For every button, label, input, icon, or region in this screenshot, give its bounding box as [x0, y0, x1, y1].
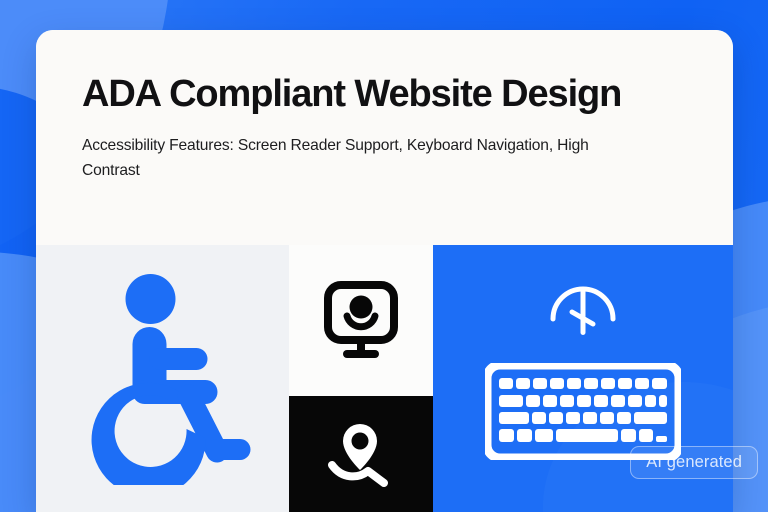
screen-reader-monitor-icon	[322, 281, 400, 361]
contrast-gauge-icon	[547, 275, 619, 337]
poster-canvas: ADA Compliant Website Design Accessibili…	[0, 0, 768, 512]
page-subtitle: Accessibility Features: Screen Reader Su…	[82, 134, 602, 183]
card-header: ADA Compliant Website Design Accessibili…	[36, 30, 733, 245]
media-panel-navigation	[289, 396, 433, 512]
media-strip	[36, 245, 733, 512]
wheelchair-accessibility-icon	[75, 273, 250, 485]
content-card: ADA Compliant Website Design Accessibili…	[36, 30, 733, 512]
location-pin-route-icon	[324, 421, 398, 487]
ai-generated-badge: AI generated	[630, 446, 758, 480]
media-panel-screen-reader	[289, 245, 433, 396]
media-panel-column-center	[289, 245, 433, 512]
media-panel-wheelchair	[36, 245, 289, 512]
page-title: ADA Compliant Website Design	[82, 73, 673, 116]
